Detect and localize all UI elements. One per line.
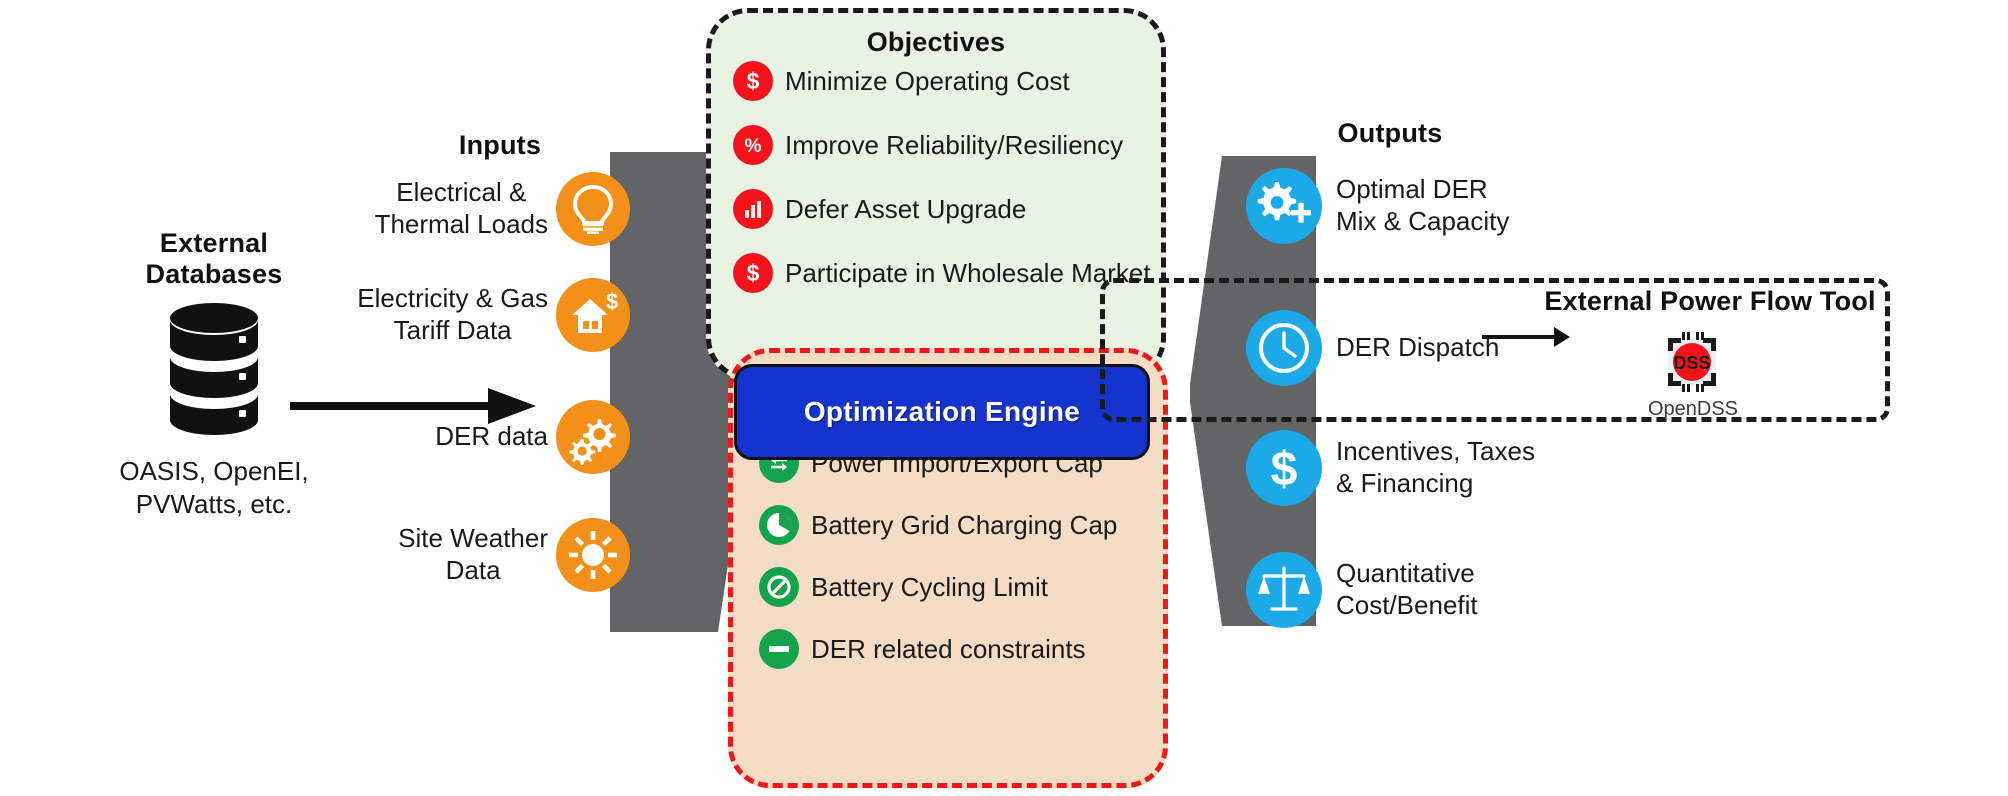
- objectives-panel: Objectives $ Minimize Operating Cost % I…: [706, 8, 1166, 380]
- output-item-optimal-der-mix-capacity[interactable]: Optimal DER Mix & Capacity: [1246, 168, 1509, 244]
- gears-icon: [556, 400, 630, 474]
- house-dollar-icon: $: [556, 278, 630, 352]
- dollar-circle-icon: $: [733, 253, 773, 293]
- dollar-icon: $: [1246, 430, 1322, 506]
- constraint-item-battery-cycling-limit[interactable]: Battery Cycling Limit: [759, 567, 1048, 607]
- no-entry-circle-icon: [759, 567, 799, 607]
- external-databases-caption: OASIS, OpenEI, PVWatts, etc.: [74, 455, 354, 520]
- output-label-line1: Quantitative: [1336, 558, 1478, 590]
- outputs-title: Outputs: [1280, 118, 1500, 149]
- constraint-label: Battery Cycling Limit: [811, 572, 1048, 603]
- output-label: Quantitative Cost/Benefit: [1336, 558, 1478, 621]
- external-databases-title: External Databases: [104, 228, 324, 290]
- objectives-title: Objectives: [711, 27, 1161, 58]
- database-icon: [167, 300, 261, 440]
- objective-item-defer-asset-upgrade[interactable]: Defer Asset Upgrade: [733, 189, 1026, 229]
- constraint-label: Battery Grid Charging Cap: [811, 510, 1117, 541]
- input-label-line2: Tariff Data: [357, 315, 548, 347]
- dollar-circle-icon: $: [733, 61, 773, 101]
- sun-icon: [556, 518, 630, 592]
- clock-pie-circle-icon: [759, 505, 799, 545]
- optimization-engine-label: Optimization Engine: [804, 396, 1080, 428]
- lightbulb-icon: [556, 172, 630, 246]
- objective-item-participate-in-wholesale-market[interactable]: $ Participate in Wholesale Market: [733, 253, 1151, 293]
- svg-text:$: $: [747, 68, 760, 94]
- external-databases-caption-line1: OASIS, OpenEI,: [74, 455, 354, 488]
- minus-circle-icon: [759, 629, 799, 669]
- percent-circle-icon: %: [733, 125, 773, 165]
- output-label: Optimal DER Mix & Capacity: [1336, 174, 1509, 237]
- opendss-caption: OpenDSS: [1618, 398, 1768, 421]
- input-label: Electrical & Thermal Loads: [375, 177, 548, 240]
- output-item-incentives-taxes-financing[interactable]: $ Incentives, Taxes & Financing: [1246, 430, 1535, 506]
- output-label-line1: Optimal DER: [1336, 174, 1509, 206]
- output-label: Incentives, Taxes & Financing: [1336, 436, 1535, 499]
- output-label-line1: Incentives, Taxes: [1336, 436, 1535, 468]
- optimization-engine-box[interactable]: Optimization Engine: [734, 364, 1150, 460]
- input-item-electrical-thermal-loads[interactable]: Electrical & Thermal Loads: [330, 172, 630, 246]
- input-label-line2: Data: [398, 555, 548, 587]
- input-label-line1: Electricity & Gas: [357, 283, 548, 315]
- output-label-line2: Cost/Benefit: [1336, 590, 1478, 622]
- input-item-electricity-gas-tariff-data[interactable]: Electricity & Gas Tariff Data $: [300, 278, 630, 352]
- input-label-line2: Thermal Loads: [375, 209, 548, 241]
- external-databases-title-line1: External: [104, 228, 324, 259]
- objective-item-minimize-operating-cost[interactable]: $ Minimize Operating Cost: [733, 61, 1070, 101]
- constraint-item-der-related-constraints[interactable]: DER related constraints: [759, 629, 1086, 669]
- diagram-canvas: External Databases OASIS, OpenEI, PVWatt…: [0, 0, 2008, 796]
- svg-text:$: $: [1271, 443, 1298, 496]
- objective-label: Improve Reliability/Resiliency: [785, 130, 1123, 161]
- right-arrow-icon: [1482, 322, 1570, 352]
- svg-text:%: %: [745, 136, 762, 157]
- constraint-item-battery-grid-charging-cap[interactable]: Battery Grid Charging Cap: [759, 505, 1117, 545]
- external-databases-title-line2: Databases: [104, 259, 324, 290]
- input-label-line1: DER data: [435, 421, 548, 453]
- svg-text:$: $: [606, 289, 618, 314]
- output-item-quantitative-cost-benefit[interactable]: Quantitative Cost/Benefit: [1246, 552, 1478, 628]
- external-power-flow-tool-title: External Power Flow Tool: [1530, 286, 1890, 317]
- input-label-line1: Site Weather: [398, 523, 548, 555]
- svg-text:$: $: [747, 260, 760, 286]
- gear-plus-icon: [1246, 168, 1322, 244]
- objective-label: Participate in Wholesale Market: [785, 258, 1151, 289]
- input-label-line1: Electrical &: [375, 177, 548, 209]
- input-item-site-weather-data[interactable]: Site Weather Data: [340, 518, 630, 592]
- external-databases-caption-line2: PVWatts, etc.: [74, 488, 354, 521]
- output-label-line2: Mix & Capacity: [1336, 206, 1509, 238]
- balance-scale-icon: [1246, 552, 1322, 628]
- objective-item-improve-reliability-resiliency[interactable]: % Improve Reliability/Resiliency: [733, 125, 1123, 165]
- constraint-label: DER related constraints: [811, 634, 1086, 665]
- input-item-der-data[interactable]: DER data: [360, 400, 630, 474]
- input-label: Site Weather Data: [398, 523, 548, 586]
- bar-chart-circle-icon: [733, 189, 773, 229]
- output-label-line2: & Financing: [1336, 468, 1535, 500]
- inputs-title: Inputs: [400, 130, 600, 161]
- objective-label: Minimize Operating Cost: [785, 66, 1070, 97]
- opendss-logo-text: DSS: [1673, 353, 1710, 373]
- input-label: Electricity & Gas Tariff Data: [357, 283, 548, 346]
- input-label: DER data: [435, 421, 548, 453]
- objective-label: Defer Asset Upgrade: [785, 194, 1026, 225]
- opendss-logo-icon: DSS: [1660, 330, 1724, 394]
